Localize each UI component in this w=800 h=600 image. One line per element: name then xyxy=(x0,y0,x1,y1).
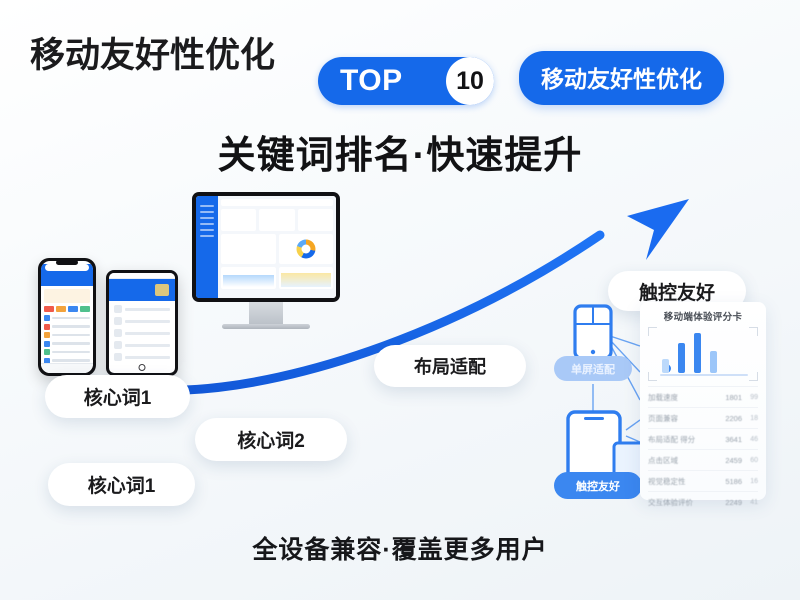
dashboard-area-chart xyxy=(279,267,334,289)
row-label: 页面兼容 xyxy=(648,413,716,424)
list-item xyxy=(114,353,170,361)
illustration-pill-screen-fit: 单屏适配 xyxy=(554,356,632,381)
dashboard-line-chart xyxy=(221,234,276,264)
phone-search-bar xyxy=(45,264,89,271)
dashboard-donut-chart xyxy=(279,234,334,264)
row-label: 点击区域 xyxy=(648,455,716,466)
device-mockups xyxy=(24,192,354,397)
row-value: 5186 xyxy=(716,477,742,486)
crop-corner-icon xyxy=(648,372,657,381)
dashboard-main xyxy=(218,196,336,298)
list-item xyxy=(44,324,90,330)
top-rank-badge: TOP 10 xyxy=(318,57,494,105)
dashboard-row xyxy=(221,267,333,289)
row-label: 布局适配 得分 xyxy=(648,434,716,445)
row-value: 3641 xyxy=(716,435,742,444)
row-pct: 16 xyxy=(742,478,758,485)
mobile-experience-scorecard: 移动端体验评分卡 加载速度 1801 99 xyxy=(640,302,766,500)
callout-layout-adapt[interactable]: 布局适配 xyxy=(374,345,526,387)
row-pct: 46 xyxy=(742,436,758,443)
row-value: 2206 xyxy=(716,414,742,423)
crop-corner-icon xyxy=(749,327,758,336)
row-value: 2249 xyxy=(716,498,742,507)
top-badge-word: TOP xyxy=(340,66,403,96)
phone-tabbar xyxy=(41,363,93,373)
sidebar-line xyxy=(200,223,214,226)
footer-tagline: 全设备兼容·覆盖更多用户 xyxy=(0,530,800,566)
monitor-stand xyxy=(249,302,283,324)
dashboard-card xyxy=(298,209,333,231)
phone-screen xyxy=(41,261,93,373)
row-value: 2459 xyxy=(716,456,742,465)
monitor-base xyxy=(222,324,310,329)
row-label: 加载速度 xyxy=(648,392,716,403)
tablet-hero-banner xyxy=(109,279,175,301)
scorecard-row: 页面兼容 2206 18 xyxy=(648,407,758,428)
list-item xyxy=(44,332,90,338)
phone-app-header xyxy=(41,264,93,286)
keyword-pill-2[interactable]: 核心词2 xyxy=(195,418,347,461)
list-item xyxy=(114,317,170,325)
dashboard-area-chart xyxy=(221,267,276,289)
scorecard-title: 移动端体验评分卡 xyxy=(648,309,758,323)
monitor-dashboard xyxy=(196,196,336,298)
list-item xyxy=(114,305,170,313)
row-pct: 18 xyxy=(742,415,758,422)
list-item xyxy=(114,329,170,337)
chart-bar xyxy=(678,343,685,373)
dashboard-row xyxy=(221,209,333,231)
sidebar-line xyxy=(200,235,214,238)
row-label: 视觉稳定性 xyxy=(648,476,716,487)
app-icon xyxy=(68,306,78,312)
chart-bar xyxy=(662,359,669,373)
phone-banner xyxy=(44,289,90,303)
chart-bars xyxy=(662,331,746,373)
dashboard-card xyxy=(221,209,256,231)
header-tag-pill: 移动友好性优化 xyxy=(519,51,724,105)
sidebar-line xyxy=(200,229,214,232)
smartphone-mockup xyxy=(38,258,96,376)
sidebar-line xyxy=(200,205,214,208)
list-item xyxy=(44,341,90,347)
row-value: 1801 xyxy=(716,393,742,402)
app-icon xyxy=(56,306,66,312)
crop-corner-icon xyxy=(648,327,657,336)
scorecard-row: 交互体验评价 2249 41 xyxy=(648,491,758,512)
keyword-pill-3[interactable]: 核心词1 xyxy=(48,463,195,506)
poster-canvas: 移动友好性优化 TOP 10 移动友好性优化 关键词排名·快速提升 xyxy=(0,0,800,600)
dashboard-sidebar xyxy=(196,196,218,298)
donut-icon xyxy=(296,240,315,259)
row-pct: 60 xyxy=(742,457,758,464)
tablet-home-button xyxy=(139,364,146,371)
row-pct: 41 xyxy=(742,499,758,506)
chart-bar xyxy=(710,351,717,373)
chart-bar xyxy=(694,333,701,373)
scorecard-row: 布局适配 得分 3641 46 xyxy=(648,428,758,449)
list-item xyxy=(44,349,90,355)
top-badge-number: 10 xyxy=(446,57,494,105)
arrow-head xyxy=(627,199,689,260)
scorecard-row: 视觉稳定性 5186 16 xyxy=(648,470,758,491)
illustration-pill-touch-friendly: 触控友好 xyxy=(554,472,642,499)
scorecard-row: 加载速度 1801 99 xyxy=(648,386,758,407)
sparkline-icon xyxy=(223,275,274,287)
page-title: 移动友好性优化 xyxy=(30,27,275,78)
sparkline-icon xyxy=(281,273,332,287)
dashboard-row xyxy=(221,234,333,264)
sidebar-line xyxy=(200,217,214,220)
desktop-monitor xyxy=(192,192,340,329)
scorecard-chart xyxy=(648,327,758,381)
device-network-illustration: 单屏适配 触控友好 移动端体验评分卡 加载速度 1801 xyxy=(548,300,766,510)
phone-icon-row xyxy=(44,306,90,312)
sidebar-line xyxy=(200,211,214,214)
dashboard-card xyxy=(259,209,294,231)
app-icon xyxy=(80,306,90,312)
row-label: 交互体验评价 xyxy=(648,497,716,508)
row-pct: 99 xyxy=(742,394,758,401)
keyword-pill-1[interactable]: 核心词1 xyxy=(45,375,190,418)
dashboard-topbar xyxy=(221,199,333,206)
app-icon xyxy=(44,306,54,312)
tablet-screen xyxy=(109,273,175,373)
tablet-mockup xyxy=(106,270,178,376)
page-subtitle: 关键词排名·快速提升 xyxy=(0,124,800,179)
monitor-screen xyxy=(192,192,340,302)
crop-corner-icon xyxy=(749,372,758,381)
phone-notch xyxy=(56,260,78,265)
scorecard-row: 点击区域 2459 60 xyxy=(648,449,758,470)
list-item xyxy=(44,315,90,321)
chart-baseline xyxy=(660,374,748,377)
list-item xyxy=(114,341,170,349)
